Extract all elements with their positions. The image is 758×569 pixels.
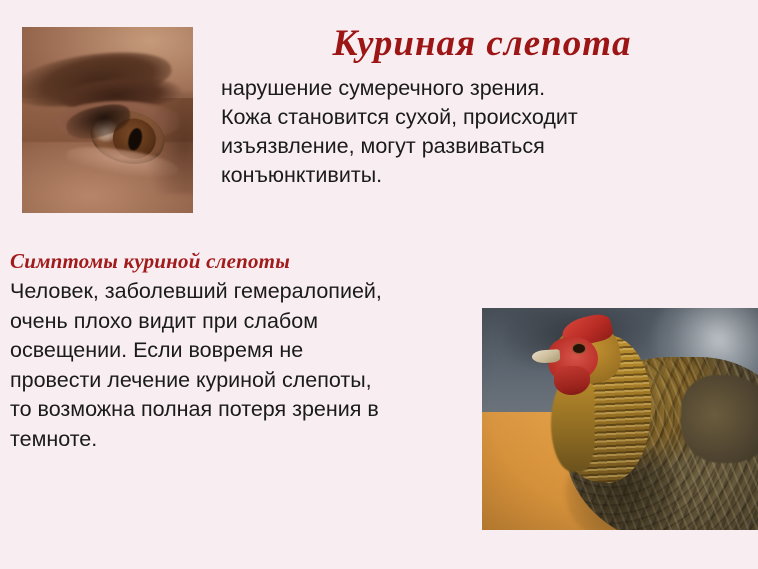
symptoms-line: Человек, заболевший гемералопией, [10, 277, 480, 307]
symptoms-heading: Симптомы куриной слепоты [10, 248, 480, 275]
symptoms-line: очень плохо видит при слабом [10, 307, 480, 337]
symptoms-line: провести лечение куриной слепоты, [10, 366, 480, 396]
symptoms-section: Симптомы куриной слепоты Человек, заболе… [10, 248, 480, 454]
brown-hen-photo [482, 308, 758, 530]
slide-canvas: Куриная слепота нарушение сумеречного зр… [0, 0, 758, 569]
symptoms-line: темноте. [10, 425, 480, 455]
page-title: Куриная слепота [222, 22, 742, 66]
intro-line: нарушение сумеречного зрения. [221, 74, 696, 103]
eye-photo-shadow [142, 92, 193, 194]
intro-paragraph: нарушение сумеречного зрения. Кожа стано… [221, 74, 696, 190]
symptoms-line: освещении. Если вовремя не [10, 336, 480, 366]
symptoms-line: то возможна полная потеря зрения в [10, 395, 480, 425]
symptoms-paragraph: Человек, заболевший гемералопией, очень … [10, 277, 480, 454]
intro-line: Кожа становится сухой, происходит [221, 103, 696, 132]
intro-line: конъюнктивиты. [221, 161, 696, 190]
human-eye-closeup-photo [22, 27, 193, 213]
hen-photo-vignette [482, 308, 758, 530]
intro-line: изъязвление, могут развиваться [221, 132, 696, 161]
